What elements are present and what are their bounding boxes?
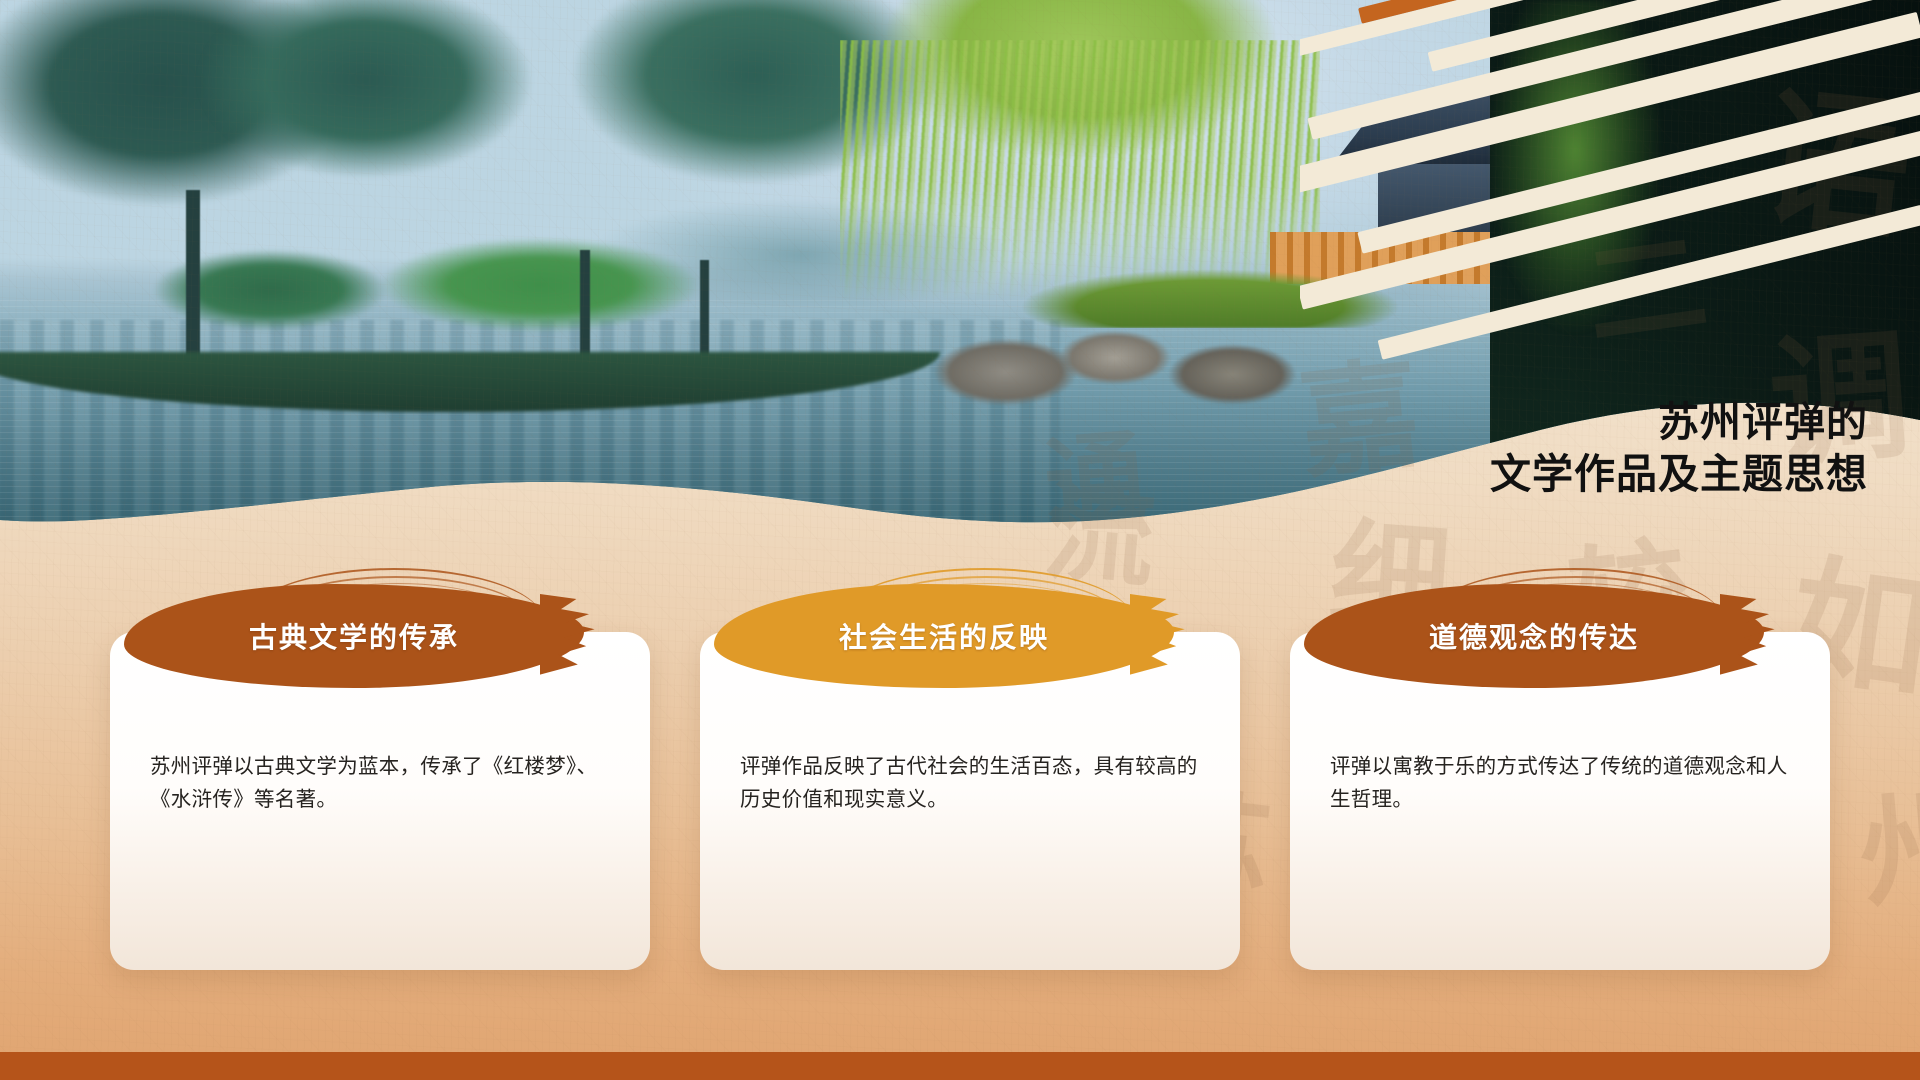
card-body-text: 苏州评弹以古典文学为蓝本，传承了《红楼梦》、《水浒传》等名著。 [150, 750, 622, 816]
content-card-group: 古典文学的传承 苏州评弹以古典文学为蓝本，传承了《红楼梦》、《水浒传》等名著。 … [0, 632, 1920, 972]
content-card[interactable]: 社会生活的反映 评弹作品反映了古代社会的生活百态，具有较高的历史价值和现实意义。 [700, 632, 1240, 970]
card-body-text: 评弹作品反映了古代社会的生活百态，具有较高的历史价值和现实意义。 [740, 750, 1212, 816]
card-banner: 社会生活的反映 [714, 584, 1174, 688]
card-title: 道德观念的传达 [1429, 616, 1639, 656]
pine-tree-small [120, 230, 420, 350]
content-card[interactable]: 道德观念的传达 评弹以寓教于乐的方式传达了传统的道德观念和人生哲理。 [1290, 632, 1830, 970]
content-card[interactable]: 古典文学的传承 苏州评弹以古典文学为蓝本，传承了《红楼梦》、《水浒传》等名著。 [110, 632, 650, 970]
card-banner: 古典文学的传承 [124, 584, 584, 688]
card-title: 古典文学的传承 [249, 616, 459, 656]
page-title: 苏州评弹的 文学作品及主题思想 [1490, 396, 1868, 501]
card-body-text: 评弹以寓教于乐的方式传达了传统的道德观念和人生哲理。 [1330, 750, 1802, 816]
presentation-slide: 二语调如嘉细较流通苏州 苏州评弹的 文学作品及主题思想 古典文学的传承 苏州评弹… [0, 0, 1920, 1080]
page-title-line-2: 文学作品及主题思想 [1490, 448, 1868, 500]
card-banner: 道德观念的传达 [1304, 584, 1764, 688]
page-title-line-1: 苏州评弹的 [1490, 396, 1868, 448]
foliage-green-patch [1480, 0, 1670, 430]
bottom-accent-bar [0, 1052, 1920, 1080]
card-title: 社会生活的反映 [839, 616, 1049, 656]
shore-rocks [930, 300, 1350, 420]
